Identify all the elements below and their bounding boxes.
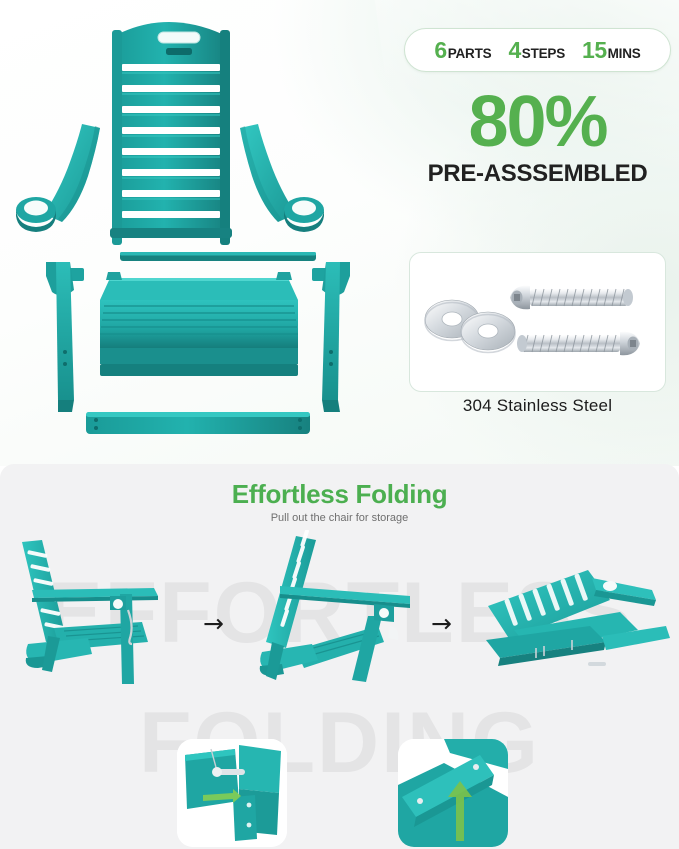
hardware-card: two flat washers and two hex-socket bolt… xyxy=(409,252,666,392)
folding-stage-chair-open xyxy=(2,532,198,692)
bolt-icon xyxy=(510,286,633,310)
part-upper-brace xyxy=(120,252,316,261)
spec-parts-unit: PARTS xyxy=(448,46,492,61)
part-right-leg-support xyxy=(322,262,350,412)
folding-section: EFFORTLESS FOLDING Effortless Folding Pu… xyxy=(0,464,679,849)
spec-parts: 6 PARTS xyxy=(434,37,491,64)
part-left-armrest xyxy=(16,124,100,232)
part-left-leg-support xyxy=(46,262,74,412)
pre-assembled-text: PRE-ASSSEMBLED xyxy=(396,160,679,188)
spec-steps: 4 STEPS xyxy=(508,37,565,64)
bolt-icon-2 xyxy=(517,332,640,356)
spec-pill: 6 PARTS 4 STEPS 15 MINS xyxy=(404,28,671,72)
product-infographic: exploded chair parts 6 PARTS 4 STEPS 15 … xyxy=(0,0,679,849)
folding-stage-chair-folding xyxy=(250,530,450,692)
stage-arrow-1: → xyxy=(203,611,224,636)
spec-parts-number: 6 xyxy=(434,37,446,64)
spec-steps-unit: STEPS xyxy=(522,46,565,61)
part-seat-assembly xyxy=(100,272,298,376)
exploded-parts-diagram: exploded chair parts xyxy=(0,0,396,462)
spec-mins-unit: MINS xyxy=(608,46,641,61)
hardware-caption: 304 Stainless Steel xyxy=(396,396,679,416)
folding-stage-chair-folded xyxy=(470,556,675,684)
folding-subtitle: Pull out the chair for storage xyxy=(0,512,679,524)
part-bottom-cross-brace xyxy=(86,412,310,434)
spec-mins-number: 15 xyxy=(582,37,607,64)
spec-mins: 15 MINS xyxy=(582,37,641,64)
top-section: exploded chair parts 6 PARTS 4 STEPS 15 … xyxy=(0,0,679,466)
spec-steps-number: 4 xyxy=(508,37,520,64)
detail-card-leg-lift xyxy=(398,739,508,847)
watermark-folding: FOLDING xyxy=(0,700,679,786)
folding-title: Effortless Folding xyxy=(0,479,679,510)
headline-block: 80% PRE-ASSSEMBLED xyxy=(396,88,679,188)
part-right-armrest xyxy=(240,124,324,232)
detail-card-latch-pin xyxy=(177,739,287,847)
percent-value: 80% xyxy=(396,88,679,156)
stage-arrow-2: → xyxy=(431,611,452,636)
washer-icon-2 xyxy=(461,312,515,353)
part-backrest xyxy=(110,22,232,245)
right-column: 6 PARTS 4 STEPS 15 MINS 80% PRE-ASSSEMBL… xyxy=(396,0,679,462)
